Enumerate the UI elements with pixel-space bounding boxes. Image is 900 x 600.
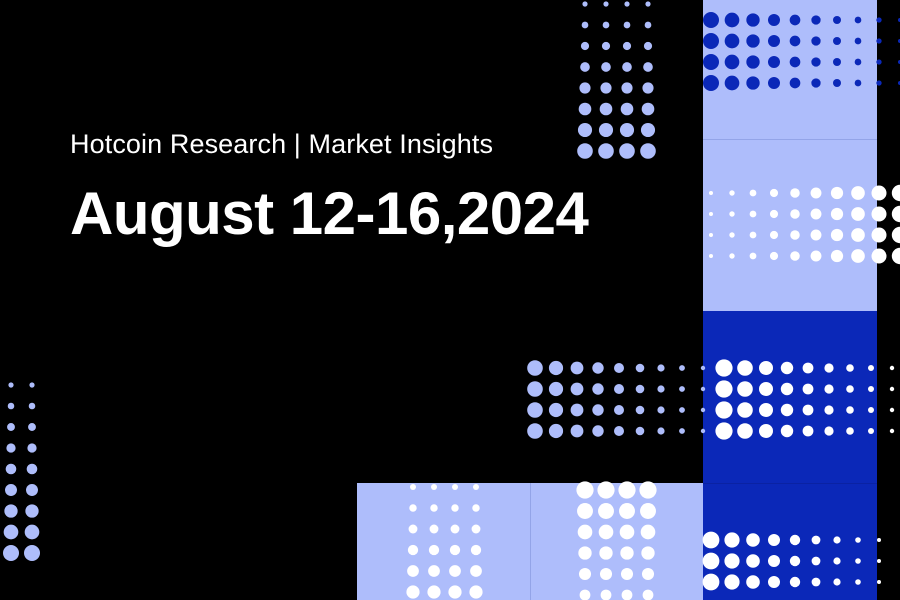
dark-blue-block [703,311,877,600]
market-insights-banner: Hotcoin Research | Market Insights Augus… [0,0,900,600]
bottom-right-light-panel [531,483,703,600]
banner-text-group: Hotcoin Research | Market Insights Augus… [70,128,670,247]
banner-eyebrow-text: Hotcoin Research | Market Insights [70,128,670,160]
bottom-left-light-panel [357,483,530,600]
banner-headline-date: August 12-16,2024 [70,181,670,247]
light-blue-column-block [703,0,877,311]
mid-center-periwinkle-row [527,360,705,439]
bottom-panel-divider-line [530,483,531,600]
dark-block-divider-line [703,483,877,484]
light-column-divider-line [703,139,877,140]
left-edge-periwinkle-grid [3,382,40,561]
